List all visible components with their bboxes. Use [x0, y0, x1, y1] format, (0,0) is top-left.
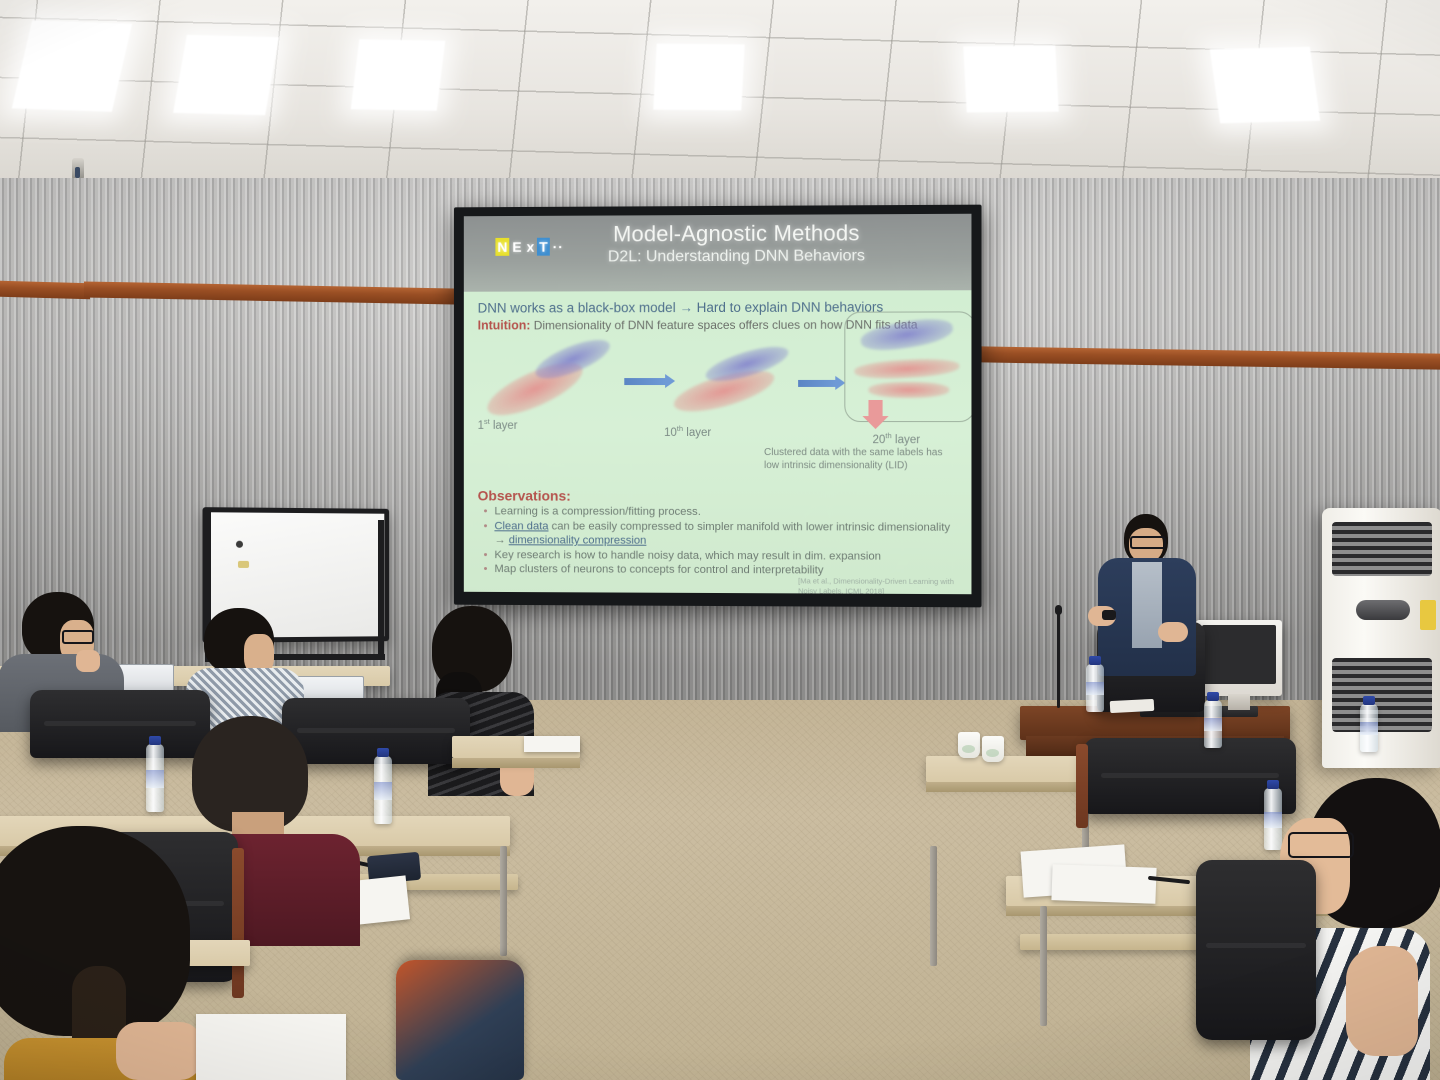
logo-letter-e: E [510, 238, 523, 256]
bottle-cap-icon [1207, 692, 1219, 701]
presenter-right-hand [1158, 622, 1188, 642]
right-second-desk-leg [1040, 906, 1047, 1026]
ceiling-light-6 [1210, 47, 1320, 124]
person-hands [116, 1022, 202, 1080]
logo-letter-t: T [537, 238, 549, 256]
label-10th-num: 10 [664, 427, 677, 439]
podium-bottle[interactable] [1086, 664, 1104, 712]
next-logo-icon: N E x T ·· [495, 236, 564, 258]
air-conditioner-unit[interactable] [1322, 508, 1440, 768]
intuition-label: Intuition: [478, 318, 531, 332]
bottle-label [374, 782, 392, 800]
person-right-hand [1346, 946, 1418, 1056]
ac-control-panel[interactable] [1356, 600, 1410, 620]
ceiling-light-5 [963, 46, 1058, 113]
ceiling-light-2 [173, 35, 279, 115]
logo-letter-n: N [495, 238, 509, 256]
label-10th-word: layer [683, 427, 711, 439]
person-glasses-icon [62, 630, 94, 644]
label-1st-layer: 1st layer [478, 417, 518, 432]
bottle-cap-icon [377, 748, 389, 757]
right-front-bottle[interactable] [1204, 700, 1222, 748]
person-right-glasses-icon [1288, 832, 1354, 858]
middle-chair-arm [232, 848, 244, 998]
ac-vent-top-icon [1332, 522, 1432, 576]
lid-callout: Clustered data with the same labels has … [764, 446, 945, 472]
podium-papers [1110, 699, 1155, 713]
label-20th-word: layer [892, 434, 920, 446]
bottle-cap-icon [1363, 696, 1375, 705]
ceiling-sensor-icon [72, 158, 84, 180]
whiteboard-stand-right [378, 520, 384, 660]
slide-surface: N E x T ·· Model-Agnostic Methods D2L: U… [464, 214, 972, 594]
bottle-label [1086, 682, 1104, 694]
observation-item-2: Clean data can be easily compressed to s… [484, 519, 958, 550]
ceiling [0, 0, 1440, 196]
bottle-cap-icon [149, 736, 161, 745]
slide-line1-a: DNN works as a black-box model [478, 300, 680, 315]
ac-badge [1420, 600, 1436, 630]
projector-screen[interactable]: N E x T ·· Model-Agnostic Methods D2L: U… [454, 205, 982, 608]
cluster-20th-red-b [868, 382, 949, 398]
scatter-figure [478, 338, 958, 431]
label-10th-layer: 10th layer [664, 424, 711, 439]
logo-letter-x: x [525, 238, 537, 256]
presentation-clicker[interactable] [1102, 610, 1116, 620]
whiteboard-magnet-yellow [238, 561, 249, 568]
observations-title: Observations: [478, 487, 958, 504]
paper-cup-left[interactable] [958, 732, 980, 758]
observation-item-1: Learning is a compression/fitting proces… [484, 504, 958, 520]
observation-2-arrow: → [494, 534, 505, 546]
bottle-label [1204, 718, 1222, 730]
clean-data-link: Clean data [494, 520, 548, 532]
monitor-stand [1228, 694, 1250, 710]
presenter [1088, 514, 1208, 714]
dimensionality-compression-link: dimensionality compression [509, 534, 647, 546]
arrow-down-glyph [868, 400, 882, 416]
logo-dots: ·· [551, 238, 566, 256]
middle-bottle-right[interactable] [374, 756, 392, 824]
observation-2-mid: can be easily compressed to simpler mani… [549, 520, 951, 533]
ceiling-light-3 [351, 39, 446, 111]
right-foreground-chair[interactable] [1196, 860, 1316, 1040]
arrow-10-to-20 [798, 380, 836, 387]
ceiling-light-1 [12, 20, 132, 111]
right-front-chair-arm [1076, 744, 1088, 828]
person-hand [76, 650, 100, 672]
middle-bottle-left[interactable] [146, 744, 164, 812]
bottle-cap-icon [1089, 656, 1101, 665]
backpack[interactable] [396, 960, 524, 1080]
slide-header: N E x T ·· Model-Agnostic Methods D2L: U… [464, 214, 972, 292]
right-ac-bottle[interactable] [1360, 704, 1378, 752]
ceiling-light-4 [653, 44, 744, 111]
back-row-paper[interactable] [524, 736, 580, 752]
foreground-desk-leg [930, 846, 937, 966]
monitor-screen [1202, 625, 1276, 684]
lecture-room-photo: N E x T ·· Model-Agnostic Methods D2L: U… [0, 0, 1440, 1080]
slide-body: DNN works as a black-box model → Hard to… [464, 290, 972, 594]
wall-trim-left [0, 281, 90, 300]
presenter-monitor[interactable] [1196, 620, 1282, 696]
arrow-right-glyph: → [679, 300, 692, 315]
desk-edge [452, 758, 580, 768]
presenter-glasses-icon [1130, 536, 1166, 549]
label-20th-num: 20 [873, 434, 886, 446]
microphone-icon [1057, 612, 1060, 708]
slide-title: Model-Agnostic Methods [503, 220, 971, 248]
label-1st-word: layer [490, 420, 518, 432]
paper-cup-right[interactable] [982, 736, 1004, 762]
middle-desk-leg-1 [500, 846, 507, 956]
observations-list: Learning is a compression/fitting proces… [484, 504, 958, 578]
slide-citation: [Ma et al., Dimensionality-Driven Learni… [798, 576, 959, 594]
bottle-label [1360, 722, 1378, 734]
arrow-1-to-10 [624, 378, 666, 385]
label-20th-layer: 20th layer [873, 431, 921, 446]
foreground-left-paper[interactable] [196, 1014, 346, 1080]
right-papers[interactable] [1051, 864, 1156, 904]
ac-vent-bottom-icon [1332, 658, 1432, 732]
slide-subtitle: D2L: Understanding DNN Behaviors [503, 246, 971, 268]
whiteboard-magnet-dark [236, 541, 243, 548]
bottle-label [146, 770, 164, 788]
